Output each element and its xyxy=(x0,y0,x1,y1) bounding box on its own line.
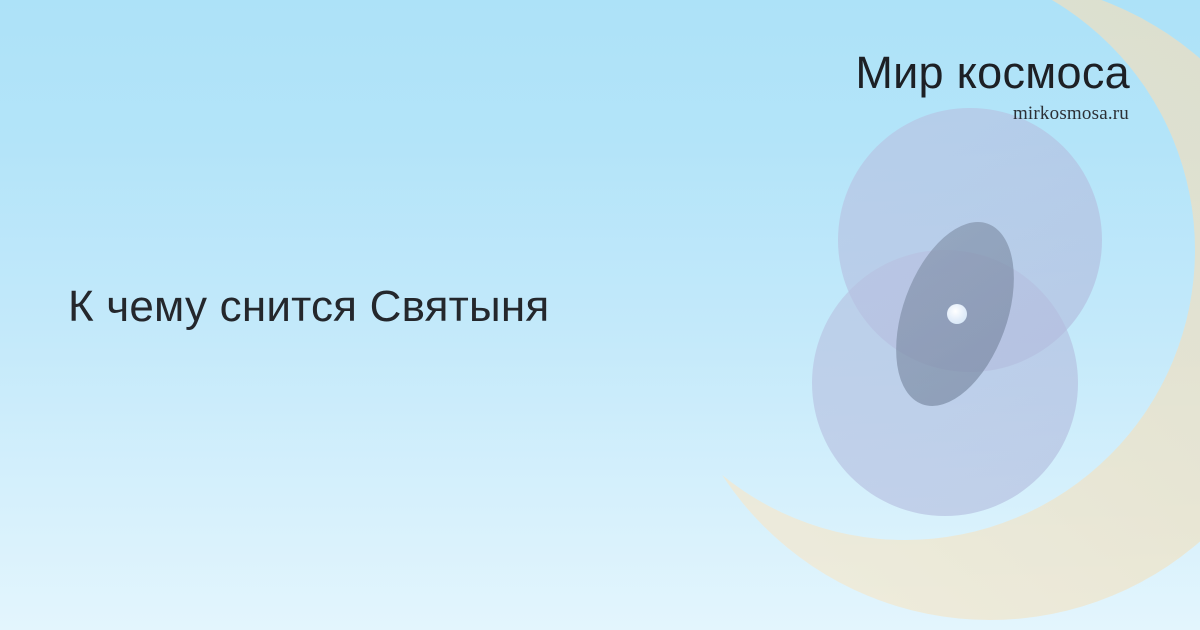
brand-block: Мир космоса mirkosmosa.ru xyxy=(855,50,1130,123)
page-title: К чему снится Святыня xyxy=(68,281,549,333)
lower-circle-shape xyxy=(812,250,1078,516)
brand-url: mirkosmosa.ru xyxy=(855,104,1129,123)
center-dot-shape xyxy=(947,304,967,324)
center-ellipse-shape xyxy=(873,206,1036,422)
brand-name: Мир космоса xyxy=(855,50,1130,95)
share-card: Мир космоса mirkosmosa.ru К чему снится … xyxy=(0,0,1200,630)
upper-circle-shape xyxy=(838,108,1102,372)
